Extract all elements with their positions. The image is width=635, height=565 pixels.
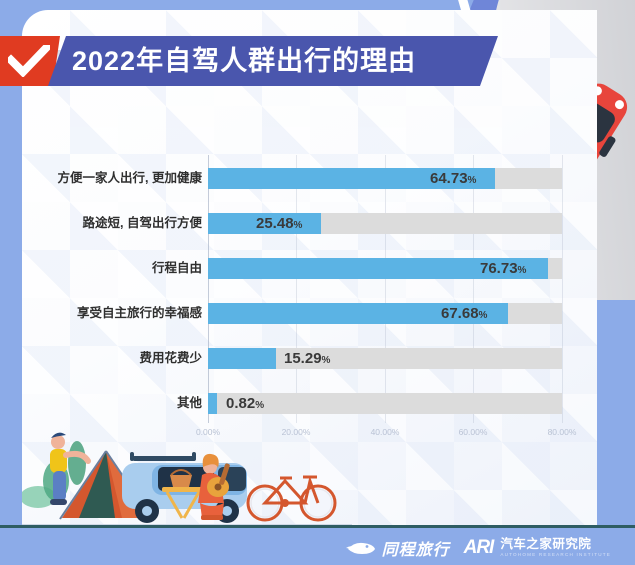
- bar-row: 67.68%: [208, 303, 564, 324]
- bar-fill: [208, 393, 217, 414]
- gridline: [385, 155, 386, 423]
- ari-mark: ARI: [464, 537, 494, 559]
- gridline: [562, 155, 563, 423]
- gridline: [473, 155, 474, 423]
- gridline: [296, 155, 297, 423]
- brand-tongcheng-name: 同程旅行: [382, 536, 450, 560]
- brand-logos: 同程旅行 ARI 汽车之家研究院 AUTOHOME RESEARCH INSTI…: [346, 536, 611, 560]
- infographic-canvas: 2022年自驾人群出行的理由 方便一家人出行, 更加健康 路途短, 自驾出行方便…: [0, 0, 635, 565]
- check-icon: [8, 45, 50, 77]
- bar-row: 25.48%: [208, 213, 564, 234]
- bar-value-label: 67.68%: [441, 303, 487, 324]
- title-block: 2022年自驾人群出行的理由: [0, 36, 520, 86]
- brand-autohome-cn: 汽车之家研究院: [500, 538, 611, 551]
- category-label: 其他: [177, 393, 202, 414]
- bar-fill: [208, 348, 276, 369]
- bar-value-label: 64.73%: [430, 168, 476, 189]
- bar-row: 76.73%: [208, 258, 564, 279]
- category-labels: 方便一家人出行, 更加健康 路途短, 自驾出行方便 行程自由 享受自主旅行的幸福…: [22, 155, 202, 425]
- category-label: 路途短, 自驾出行方便: [83, 213, 202, 234]
- bar-value-label: 0.82%: [226, 393, 264, 414]
- brand-autohome-en: AUTOHOME RESEARCH INSTITUTE: [500, 551, 611, 558]
- brand-tongcheng: 同程旅行: [346, 536, 450, 560]
- bar-chart: 方便一家人出行, 更加健康 路途短, 自驾出行方便 行程自由 享受自主旅行的幸福…: [22, 150, 597, 445]
- bar-row: 0.82%: [208, 393, 564, 414]
- bar-row: 64.73%: [208, 168, 564, 189]
- y-axis-line: [208, 155, 209, 423]
- page-title: 2022年自驾人群出行的理由: [72, 36, 416, 86]
- brand-autohome: ARI 汽车之家研究院 AUTOHOME RESEARCH INSTITUTE: [464, 537, 611, 559]
- bar-value-label: 15.29%: [284, 348, 330, 369]
- bar-row: 15.29%: [208, 348, 564, 369]
- bar-value-label: 76.73%: [480, 258, 526, 279]
- x-axis-tick: 40.00%: [371, 427, 400, 437]
- camping-scene-illustration: [22, 425, 352, 528]
- category-label: 行程自由: [152, 258, 202, 279]
- bar-value-label: 25.48%: [256, 213, 302, 234]
- category-label: 方便一家人出行, 更加健康: [58, 168, 202, 189]
- x-axis-tick: 60.00%: [459, 427, 488, 437]
- category-label: 费用花费少: [139, 348, 202, 369]
- category-label: 享受自主旅行的幸福感: [77, 303, 202, 324]
- plot-area: 64.73% 25.48% 76.73% 67.68% 15.29%: [208, 155, 564, 425]
- footer-bar: 同程旅行 ARI 汽车之家研究院 AUTOHOME RESEARCH INSTI…: [0, 525, 635, 565]
- x-axis-tick: 80.00%: [548, 427, 577, 437]
- goose-logo-icon: [346, 540, 376, 556]
